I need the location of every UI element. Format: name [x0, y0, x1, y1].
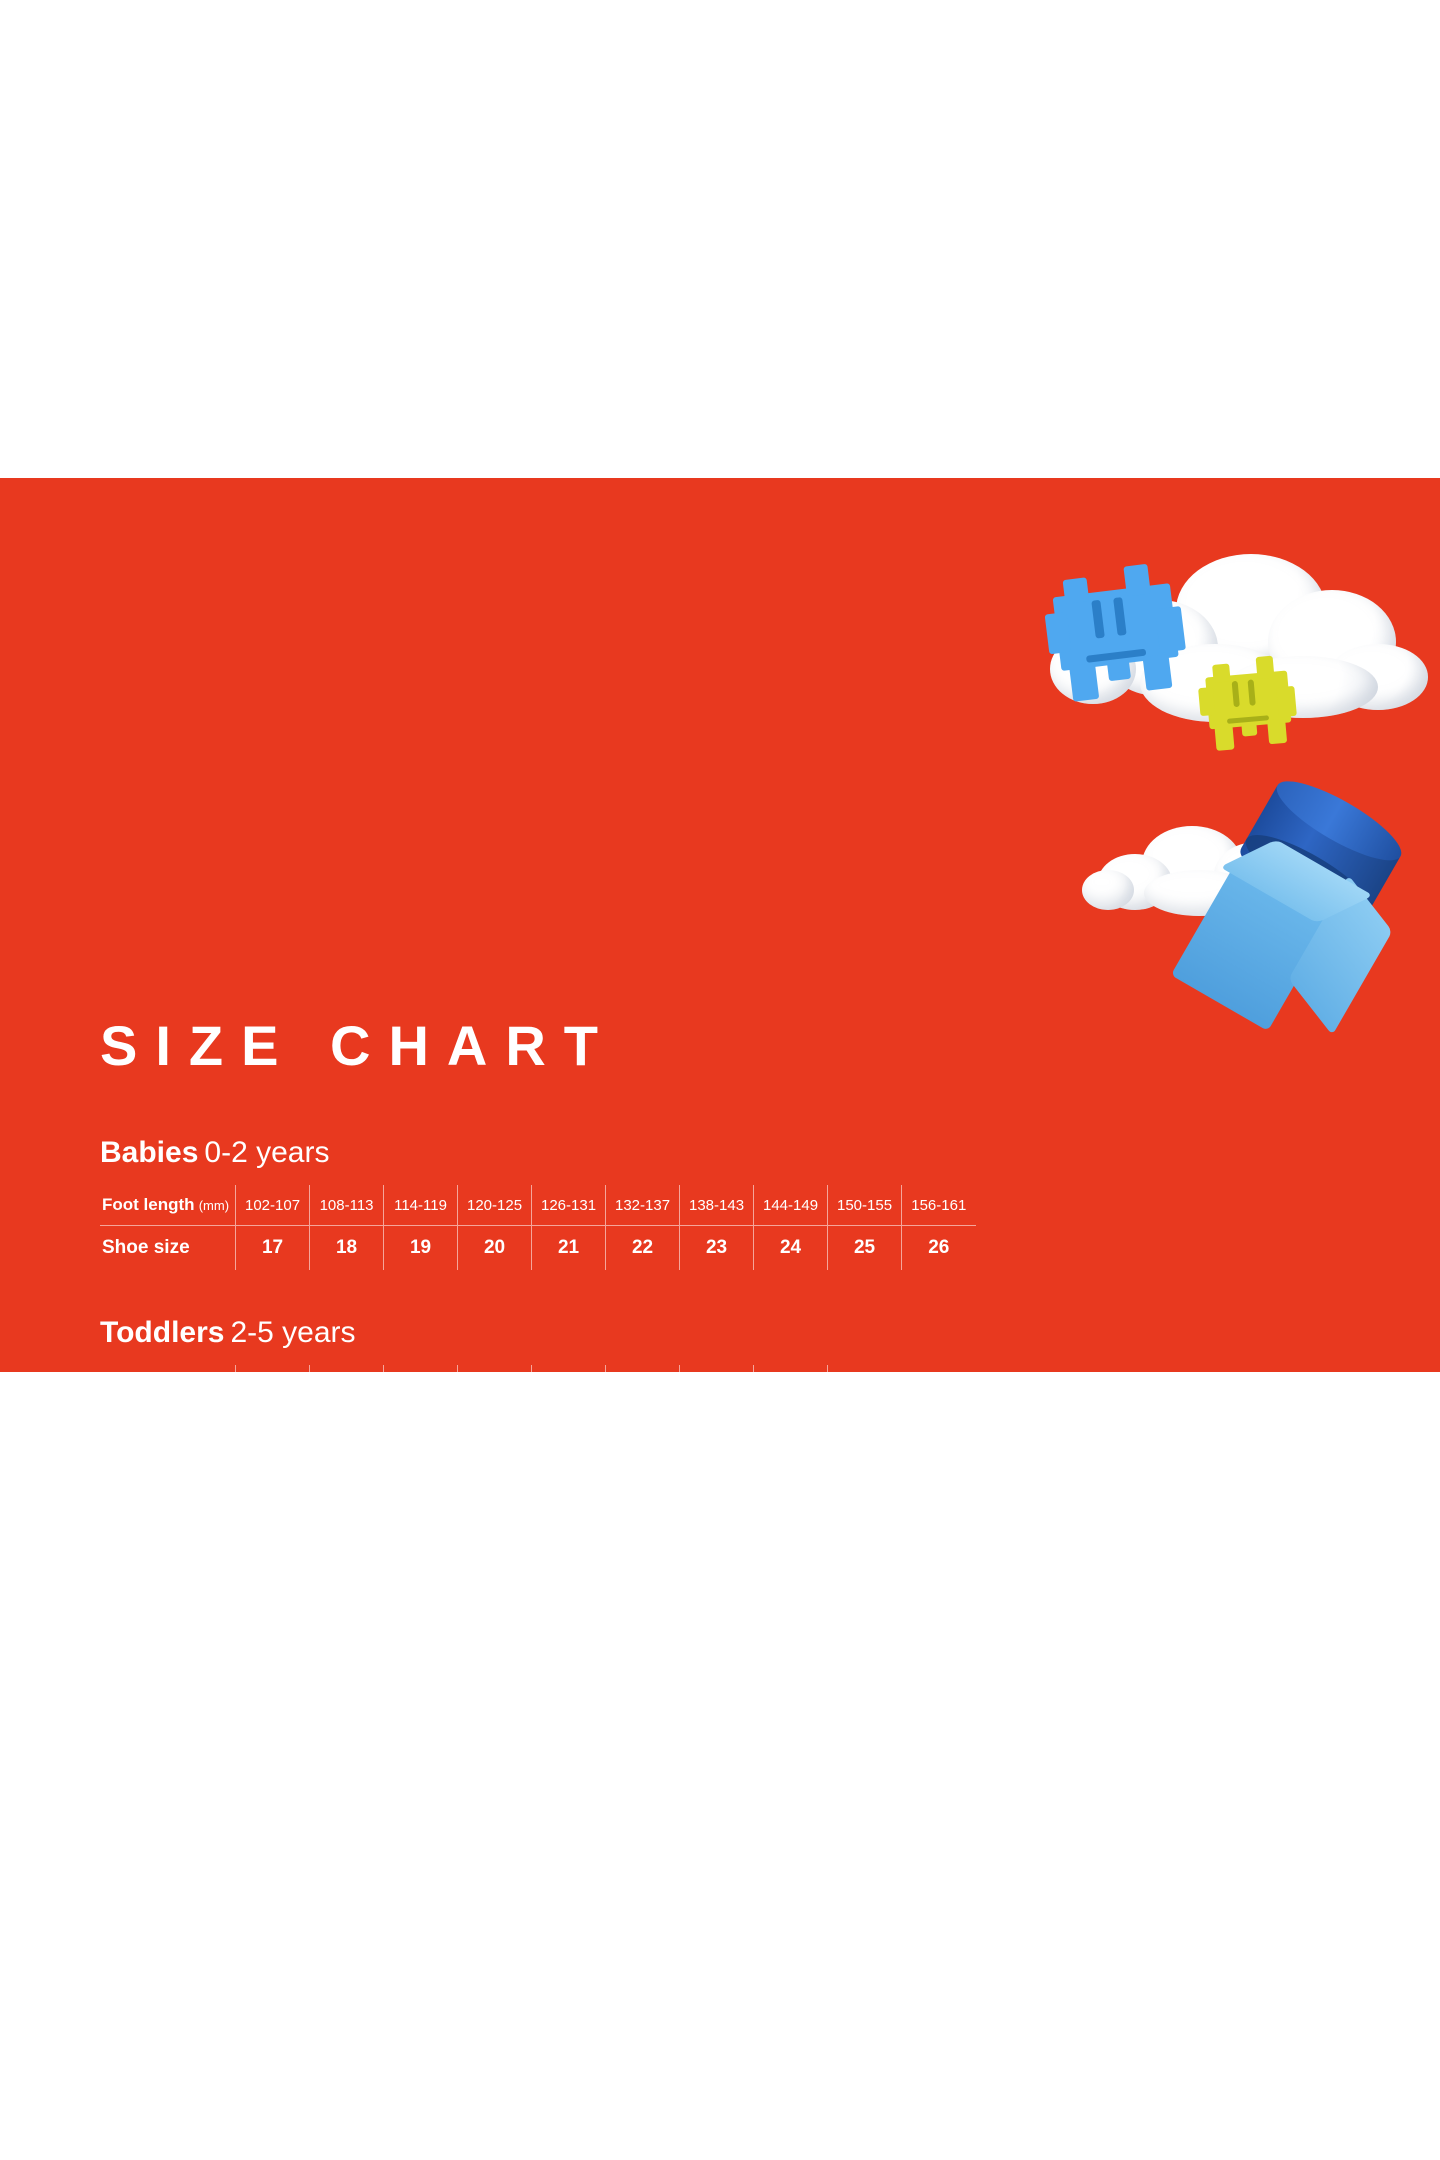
table-cell: 120-125	[458, 1185, 532, 1226]
table-cell: 114-119	[384, 1185, 458, 1226]
table-cell: 201-207	[680, 1365, 754, 1372]
section-age: 0-2 years	[204, 1136, 329, 1169]
table-row-foot-length: Foot length (mm) 102-107 108-113 114-119…	[100, 1185, 976, 1226]
table-row-shoe-size: Shoe size 17 18 19 20 21 22 23 24 25 26	[100, 1226, 976, 1271]
size-table-toddlers: Foot length (mm) 162-168 169-174 175-180…	[100, 1365, 902, 1372]
table-cell: 126-131	[532, 1185, 606, 1226]
blue-invader-icon	[1040, 560, 1194, 716]
table-cell: 22	[606, 1226, 680, 1271]
table-cell: 23	[680, 1226, 754, 1271]
table-cell: 18	[310, 1226, 384, 1271]
table-row-foot-length: Foot length (mm) 162-168 169-174 175-180…	[100, 1365, 902, 1372]
section-babies: Babies0-2 years Foot length (mm) 102-107…	[100, 1136, 1360, 1270]
yellow-invader-icon	[1196, 654, 1300, 762]
table-cell: 150-155	[828, 1185, 902, 1226]
table-cell: 181-187	[458, 1365, 532, 1372]
table-cell: 138-143	[680, 1185, 754, 1226]
section-name: Babies	[100, 1136, 198, 1169]
chart-content: SIZE CHART Babies0-2 years Foot length (…	[100, 1018, 1360, 1372]
section-heading-toddlers: Toddlers2-5 years	[100, 1316, 1360, 1349]
table-cell: 175-180	[384, 1365, 458, 1372]
section-toddlers: Toddlers2-5 years Foot length (mm) 162-1…	[100, 1316, 1360, 1372]
size-table-babies: Foot length (mm) 102-107 108-113 114-119…	[100, 1185, 976, 1270]
section-heading-babies: Babies0-2 years	[100, 1136, 1360, 1169]
table-cell: 208-213	[754, 1365, 828, 1372]
table-cell: 108-113	[310, 1185, 384, 1226]
size-chart-page: SIZE CHART Babies0-2 years Foot length (…	[0, 0, 1440, 2160]
white-cloud-bottom-icon	[1082, 826, 1332, 956]
table-cell: 24	[754, 1226, 828, 1271]
table-cell: 19	[384, 1226, 458, 1271]
table-cell: 162-168	[236, 1365, 310, 1372]
section-age: 2-5 years	[230, 1316, 355, 1349]
row-label-foot-length: Foot length (mm)	[100, 1365, 236, 1372]
page-title: SIZE CHART	[100, 1018, 1360, 1074]
shoe-size-label: Shoe size	[102, 1237, 190, 1258]
foot-length-label: Foot length	[102, 1195, 195, 1214]
red-panel: SIZE CHART Babies0-2 years Foot length (…	[0, 478, 1440, 1372]
table-cell: 21	[532, 1226, 606, 1271]
table-cell: 214-220	[828, 1365, 902, 1372]
table-cell: 188-193	[532, 1365, 606, 1372]
table-cell: 194-200	[606, 1365, 680, 1372]
table-cell: 20	[458, 1226, 532, 1271]
row-label-foot-length: Foot length (mm)	[100, 1185, 236, 1226]
table-cell: 25	[828, 1226, 902, 1271]
table-cell: 17	[236, 1226, 310, 1271]
table-cell: 156-161	[902, 1185, 976, 1226]
table-cell: 144-149	[754, 1185, 828, 1226]
section-name: Toddlers	[100, 1316, 224, 1349]
white-cloud-top-icon	[1028, 548, 1358, 748]
row-label-shoe-size: Shoe size	[100, 1226, 236, 1271]
table-cell: 169-174	[310, 1365, 384, 1372]
foot-length-unit: (mm)	[199, 1198, 229, 1213]
table-cell: 132-137	[606, 1185, 680, 1226]
table-cell: 26	[902, 1226, 976, 1271]
table-cell: 102-107	[236, 1185, 310, 1226]
